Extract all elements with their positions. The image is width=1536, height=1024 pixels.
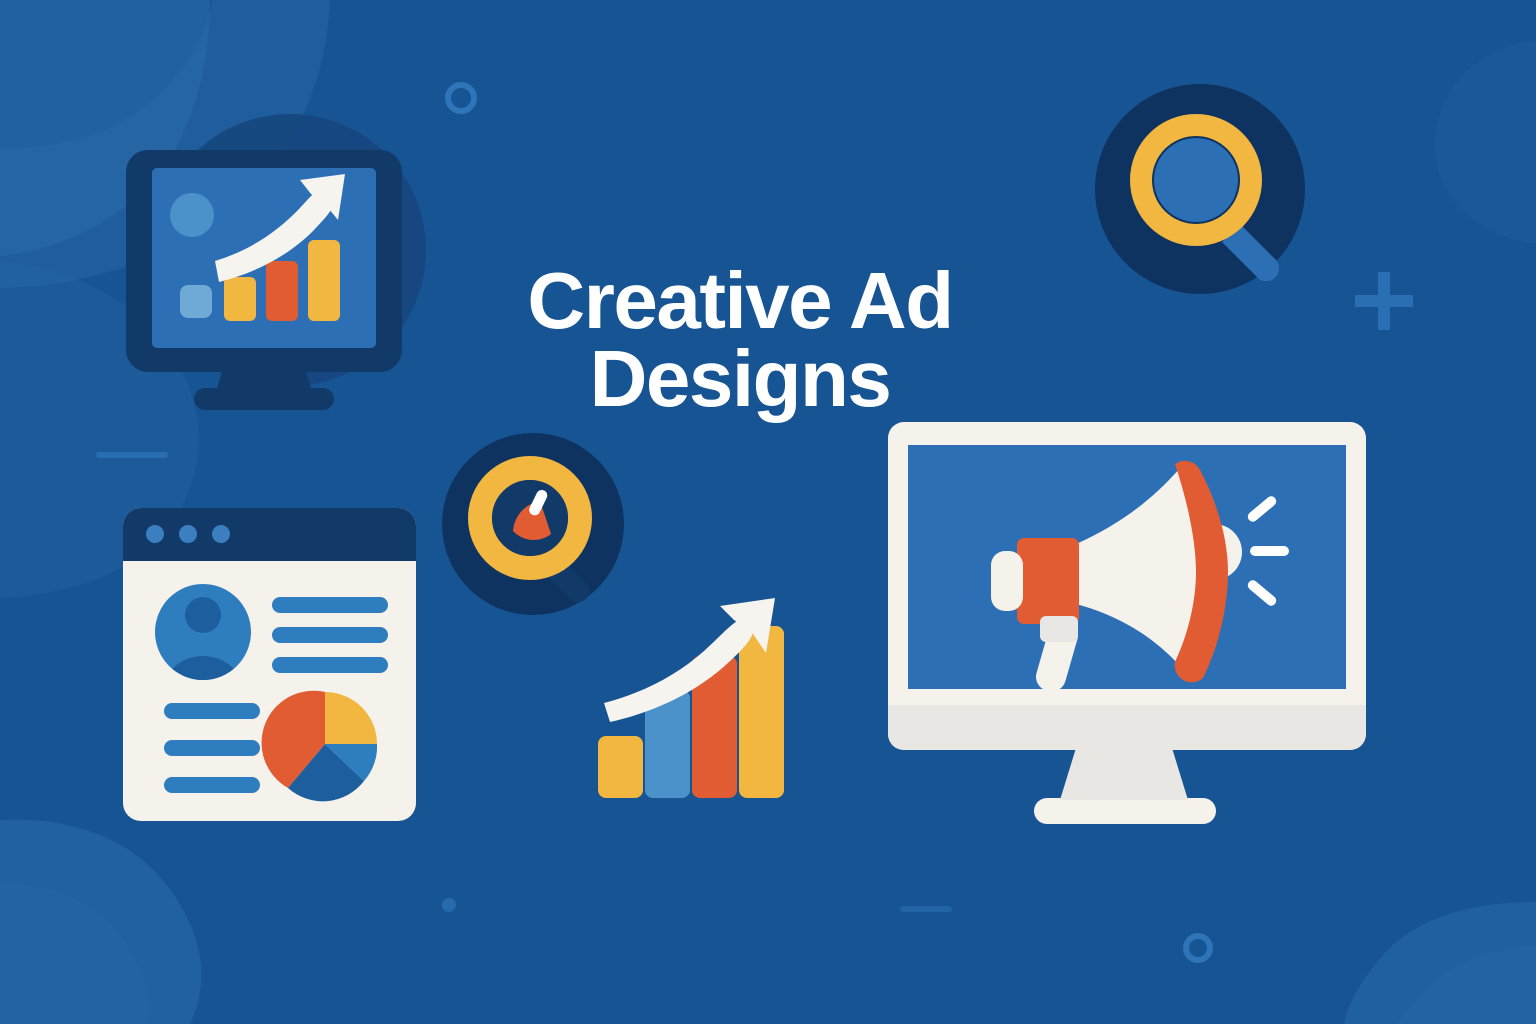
- monitor-stand-base: [1034, 798, 1216, 824]
- megaphone-monitor[interactable]: [0, 0, 1536, 1024]
- megaphone-body: [1017, 538, 1079, 624]
- megaphone-cap: [991, 551, 1023, 611]
- poster-canvas: Creative Ad Designs: [0, 0, 1536, 1024]
- monitor-chin: [888, 705, 1366, 750]
- megaphone-handle-joint: [1040, 616, 1078, 642]
- monitor-stand-neck: [1060, 748, 1188, 800]
- megaphone-sound-line-2: [1250, 546, 1289, 556]
